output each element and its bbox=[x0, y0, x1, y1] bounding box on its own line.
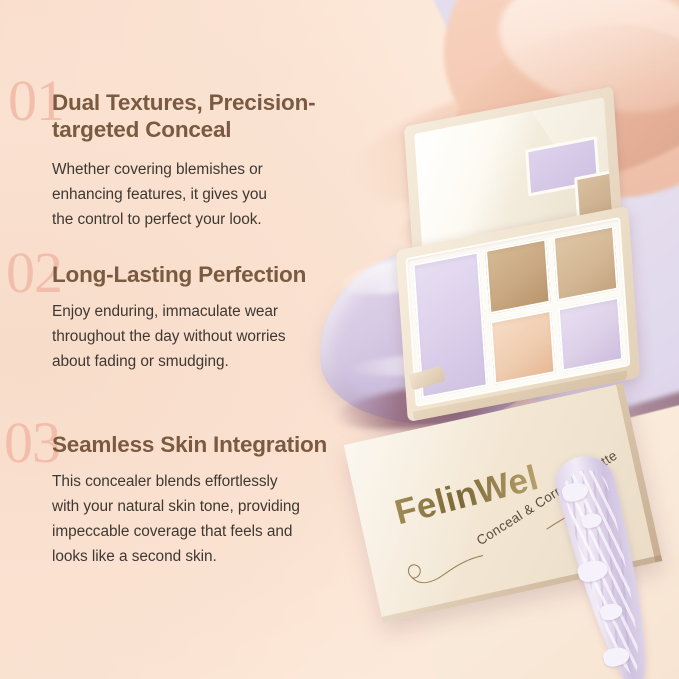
pan-tan-concealer bbox=[485, 238, 550, 313]
feature-body-2: Enjoy enduring, immaculate wear througho… bbox=[52, 300, 344, 375]
feature-body-3: This concealer blends effortlessly with … bbox=[52, 470, 342, 570]
feature-heading-2: Long-Lasting Perfection bbox=[52, 262, 362, 289]
concealer-palette bbox=[398, 108, 658, 418]
product-marketing-image: FelinWel Conceal & Correct Palette 01 Du… bbox=[0, 0, 679, 679]
pan-peach-corrector bbox=[490, 309, 555, 384]
feature-heading-1: Dual Textures, Precision- targeted Conce… bbox=[52, 90, 362, 143]
feature-list: 01 Dual Textures, Precision- targeted Co… bbox=[0, 0, 400, 679]
palette-pan-grid bbox=[413, 225, 624, 398]
pan-lilac-corrector bbox=[558, 296, 623, 371]
feature-heading-3: Seamless Skin Integration bbox=[52, 432, 372, 459]
pan-light-tan-concealer bbox=[553, 225, 618, 300]
feature-body-1: Whether covering blemishes or enhancing … bbox=[52, 158, 342, 233]
